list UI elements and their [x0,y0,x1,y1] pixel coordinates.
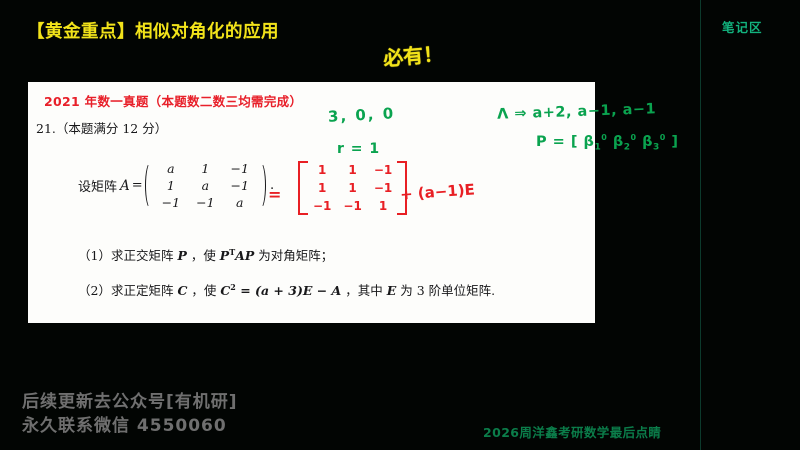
sub-question-2-mid: ，使 [187,283,220,298]
matrix-cell: −1 [154,194,188,211]
annotation-p-2-sup: 0 [631,133,637,142]
sub-question-2-suffix: ，其中 [341,283,386,298]
footer-course-title: 2026周洋鑫考研数学最后点睛 [483,422,661,441]
watermark-line-1: 后续更新去公众号[有机研] [22,387,238,412]
annotation-matrix-cell: 1 [307,161,337,179]
sub-question-2-symbol-e: E [387,283,397,298]
annotation-p-matrix: P = [ β10 β20 β30 ] [536,133,679,153]
statement-lead: 设矩阵 [78,176,117,195]
sub-question-1-expr-ap: AP [235,248,254,263]
matrix-cell: 1 [154,177,188,194]
annotation-p-3-sub: 3 [653,143,660,153]
matrix-row: a 1 −1 [154,160,257,177]
annotation-matrix-row: 1 1 −1 [307,161,398,179]
matrix-statement: 设矩阵 A = a 1 −1 1 a −1 −1 [78,160,274,211]
sub-question-2-end: 为 3 阶单位矩阵. [396,283,495,298]
matrix-right-paren [258,160,267,211]
matrix-a: a 1 −1 1 a −1 −1 −1 a [144,160,267,211]
annotation-rank: r = 1 [337,141,380,157]
matrix-cell: −1 [223,160,257,177]
annotation-eigenvalues: 3, 0, 0 [328,104,396,125]
matrix-cell: a [223,194,257,211]
sub-question-2-expr-c: C [220,283,230,298]
statement-variable: A [120,178,130,194]
annotation-matrix-cell: 1 [368,197,398,215]
watermark-line-2: 永久联系微信 4550060 [22,411,227,436]
annotation-matrix-cell: −1 [307,197,337,215]
annotation-p-2-sub: 2 [624,143,631,153]
notes-panel-title: 笔记区 [722,17,763,36]
sub-question-2-symbol-c: C [177,283,187,298]
annotation-matrix-cell: 1 [307,179,337,197]
statement-equals: = [132,178,143,193]
page-title: 【黄金重点】相似对角化的应用 [27,18,279,43]
document-header: 2021 年数一真题（本题数二数三均需完成） [44,91,302,110]
annotation-matrix-cell: 1 [337,161,367,179]
annotation-red-matrix: 1 1 −1 1 1 −1 −1 −1 1 [296,161,409,215]
annotation-red-equals: = [268,185,281,204]
matrix-cell: a [154,160,188,177]
matrix-cell: a [188,177,222,194]
annotation-p-3: β [642,134,653,150]
sub-question-1-expr-p: P [220,248,229,263]
matrix-cell: −1 [223,177,257,194]
sub-question-1-symbol-p: P [177,248,186,263]
annotation-p-1-sub: 1 [594,143,601,153]
sub-question-2-prefix: （2）求正定矩阵 [78,283,177,298]
annotation-matrix-cell: −1 [337,197,367,215]
annotation-p-1-sup: 0 [601,133,607,142]
matrix-row: −1 −1 a [154,194,257,211]
slide-canvas: 【黄金重点】相似对角化的应用 笔记区 2021 年数一真题（本题数二数三均需完成… [0,0,800,450]
matrix-cell: 1 [188,160,222,177]
annotation-matrix-row: 1 1 −1 [307,179,398,197]
annotation-matrix-cell: −1 [368,161,398,179]
annotation-matrix-cell: −1 [368,179,398,197]
sub-question-2: （2）求正定矩阵 C ，使 C2 = (a + 3)E − A ，其中 E 为 … [78,280,495,299]
sub-question-1-prefix: （1）求正交矩阵 [78,248,177,263]
notes-panel-divider [700,0,701,450]
annotation-p-suffix: ] [666,134,679,150]
matrix-row: 1 a −1 [154,177,257,194]
sub-question-2-expr-rest: = (a + 3)E − A [236,283,341,298]
annotation-p-2: β [613,134,624,150]
matrix-left-paren [144,160,153,211]
annotation-yellow-note: 必有！ [382,37,444,71]
sub-question-1-suffix: 为对角矩阵； [254,248,333,263]
annotation-matrix-cell: 1 [337,179,367,197]
sub-question-1: （1）求正交矩阵 P ，使 PTAP 为对角矩阵； [78,245,333,264]
sub-question-1-mid: ，使 [187,248,220,263]
annotation-matrix-row: −1 −1 1 [307,197,398,215]
question-number: 21.（本题满分 12 分） [36,118,167,137]
matrix-cell: −1 [188,194,222,211]
annotation-p-prefix: P = [ β [536,134,594,150]
annotation-matrix-left-bracket [296,161,305,215]
